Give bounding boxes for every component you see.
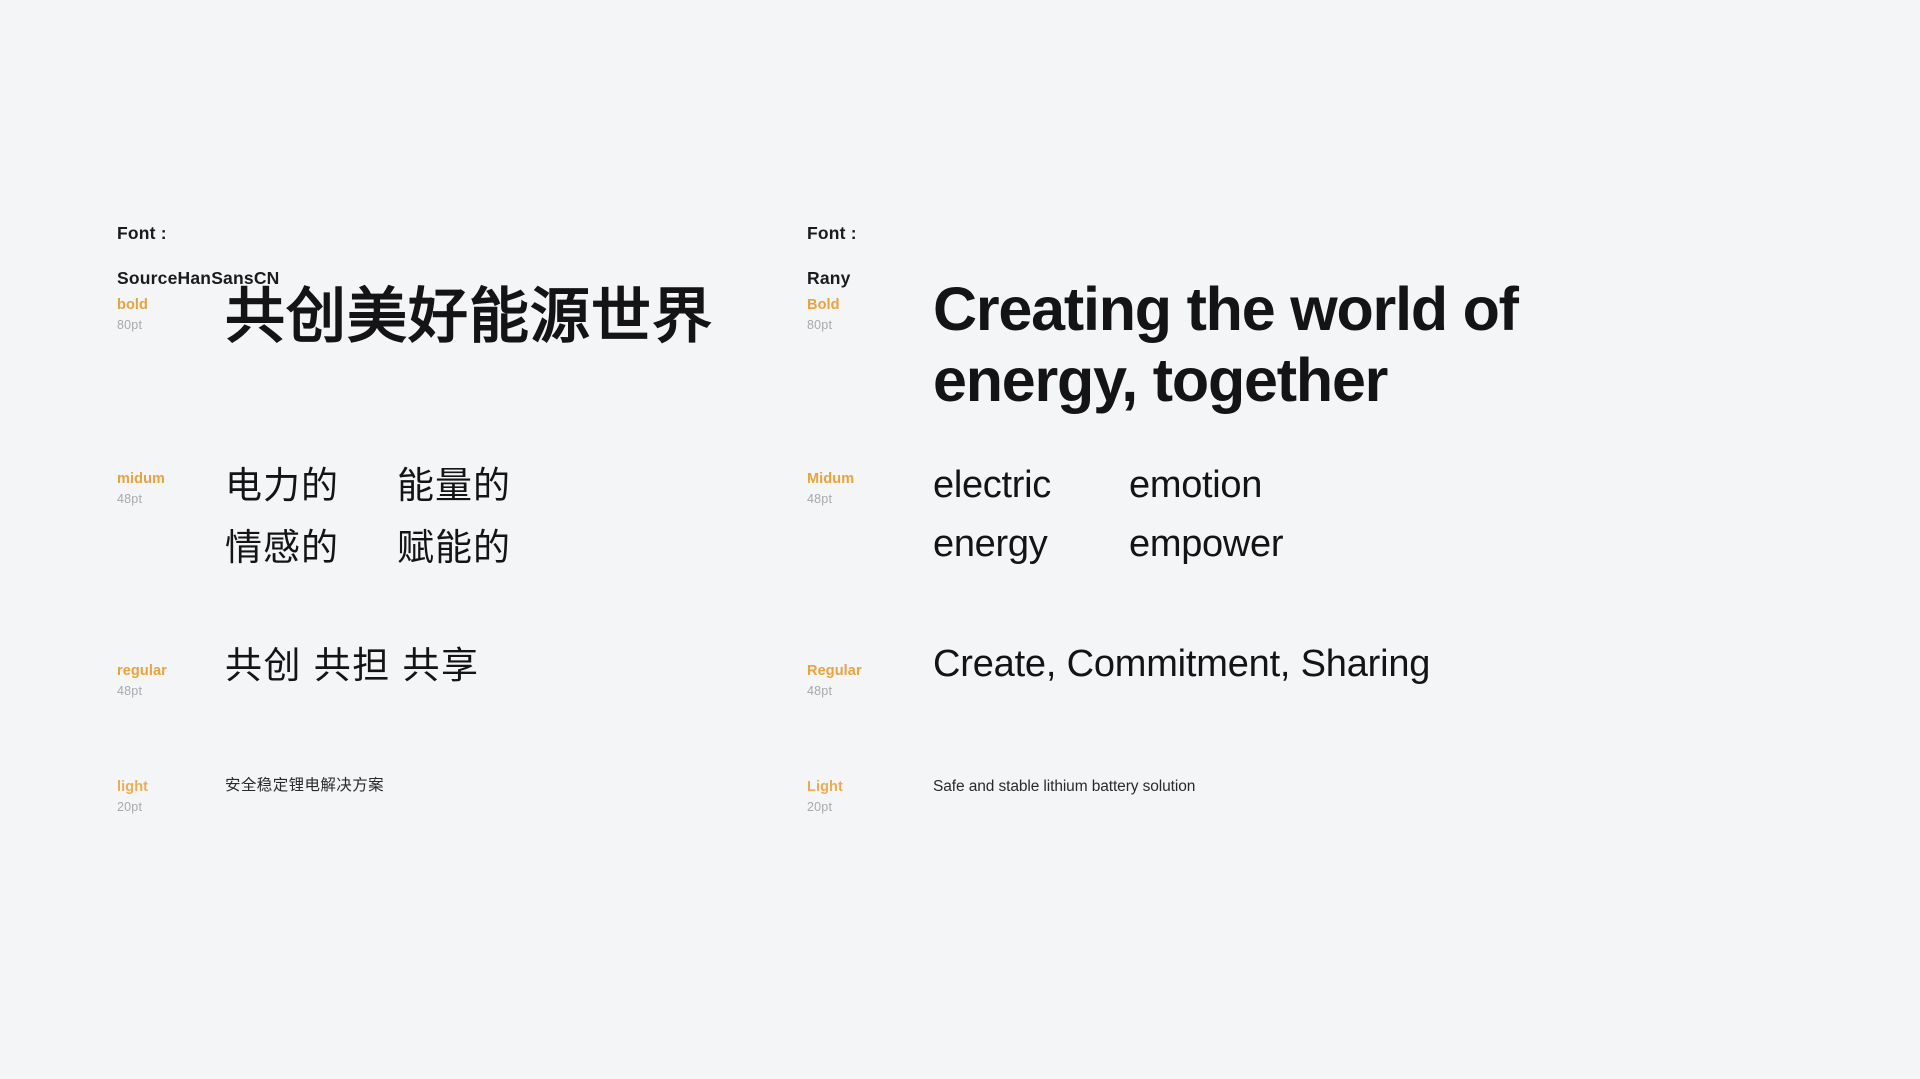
font-label: Font : [117,222,280,244]
weight-sample: electric emotion energy empower [933,470,1283,575]
weight-sample: 电力的 能量的 情感的 赋能的 [225,470,511,578]
sample-word: 情感的 [225,518,397,578]
sample-word: electric [933,455,1129,517]
weight-sample: Create, Commitment, Sharing [933,662,1430,688]
weight-sample: Safe and stable lithium battery solution [933,778,1195,797]
weight-sample: 共创 共担 共享 [225,662,480,688]
sample-text-light: Safe and stable lithium battery solution [933,777,1195,797]
word-grid: electric emotion energy empower [933,470,1283,575]
sample-word: emotion [1129,455,1283,517]
sample-word: 能量的 [397,456,511,516]
sample-word: 电力的 [225,456,397,516]
font-name: Rany [807,267,857,289]
sample-text-regular: Create, Commitment, Sharing [933,642,1430,688]
sample-text-light: 安全稳定锂电解决方案 [225,776,384,796]
word-grid: 电力的 能量的 情感的 赋能的 [225,470,511,578]
font-label: Font : [807,222,857,244]
weight-sample: 安全稳定锂电解决方案 [225,778,384,796]
sample-text-regular: 共创 共担 共享 [225,644,480,688]
weight-size: 20pt [807,800,957,816]
sample-word: energy [933,514,1129,576]
sample-word: 赋能的 [397,518,511,578]
sample-word: empower [1129,514,1283,576]
sample-text-display: 共创美好能源世界 [225,282,713,352]
weight-sample: Creating the world of energy, together [933,296,1518,416]
sample-text-display: Creating the world of energy, together [933,274,1518,416]
weight-size: 20pt [117,800,267,816]
typography-specimen: Font : SourceHanSansCN bold 80pt 共创美好能源世… [0,0,1920,1079]
weight-sample: 共创美好能源世界 [225,296,713,352]
